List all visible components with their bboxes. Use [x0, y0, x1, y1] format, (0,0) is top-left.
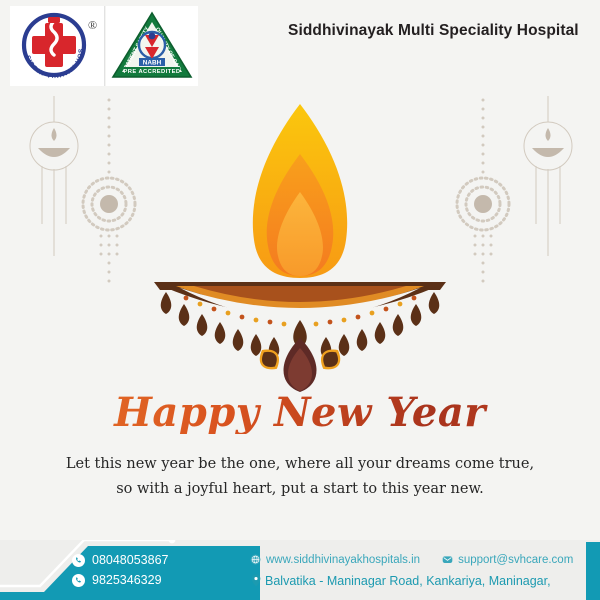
- diya-lamp-base: [154, 282, 446, 319]
- phone-icon: [72, 574, 85, 587]
- new-year-greeting-poster: ® SIDDHI VINAYAK HOSPITAL PATIENT SAFETY…: [0, 0, 600, 600]
- footer-web-email-row: www.siddhivinayakhospitals.in support@sv…: [250, 549, 595, 570]
- hanging-diya-ornament-left: [26, 96, 82, 291]
- footer-phone-1[interactable]: 08048053867: [72, 550, 168, 570]
- page-title: Siddhivinayak Multi Speciality Hospital: [288, 22, 579, 40]
- svg-text:®: ®: [88, 18, 97, 32]
- footer-phone-2[interactable]: 9825346329: [72, 570, 168, 590]
- footer-phone-list: 08048053867 9825346329: [72, 550, 168, 590]
- poster-header: ® SIDDHI VINAYAK HOSPITAL PATIENT SAFETY…: [0, 0, 600, 92]
- email-icon: [442, 554, 453, 565]
- footer-address-row: Balvatika - Maninagar Road, Kankariya, M…: [250, 570, 595, 591]
- greeting-message: Let this new year be the one, where all …: [0, 452, 600, 503]
- footer-website-text[interactable]: www.siddhivinayakhospitals.in: [266, 554, 420, 566]
- diya-lotus-motif: [254, 338, 345, 392]
- greeting-message-line-1: Let this new year be the one, where all …: [0, 452, 600, 477]
- footer-contact-details: www.siddhivinayakhospitals.in support@sv…: [250, 549, 595, 591]
- nabh-pre-accredited-badge: PATIENT SAFETY & QUALITY OF CARE NABH PR…: [110, 9, 194, 83]
- footer-email-text[interactable]: support@svhcare.com: [458, 554, 573, 566]
- globe-icon: [250, 554, 261, 565]
- siddhi-vinayak-hospital-logo: ® SIDDHI VINAYAK HOSPITAL: [14, 9, 100, 83]
- diwali-diya-illustration: [150, 92, 450, 392]
- footer-phone-2-number: 9825346329: [92, 573, 162, 587]
- location-pin-icon: [250, 574, 262, 587]
- hanging-diya-ornament-right: [520, 96, 576, 291]
- svg-text:PRE ACCREDITED: PRE ACCREDITED: [124, 69, 181, 75]
- nabh-accreditation-badge: PATIENT SAFETY & QUALITY OF CARE NABH PR…: [106, 6, 198, 86]
- greeting-message-line-2: so with a joyful heart, put a start to t…: [0, 477, 600, 502]
- svg-text:NABH: NABH: [143, 60, 162, 67]
- footer-address-text: Balvatika - Maninagar Road, Kankariya, M…: [265, 574, 551, 588]
- hanging-mandala-ornament-left: [78, 96, 140, 316]
- hanging-mandala-ornament-right: [452, 96, 514, 316]
- hospital-logo: ® SIDDHI VINAYAK HOSPITAL: [10, 6, 105, 86]
- diya-flame: [253, 104, 347, 278]
- phone-icon: [72, 554, 85, 567]
- greeting-title: Happy New Year: [0, 392, 600, 434]
- footer-phone-1-number: 08048053867: [92, 553, 168, 567]
